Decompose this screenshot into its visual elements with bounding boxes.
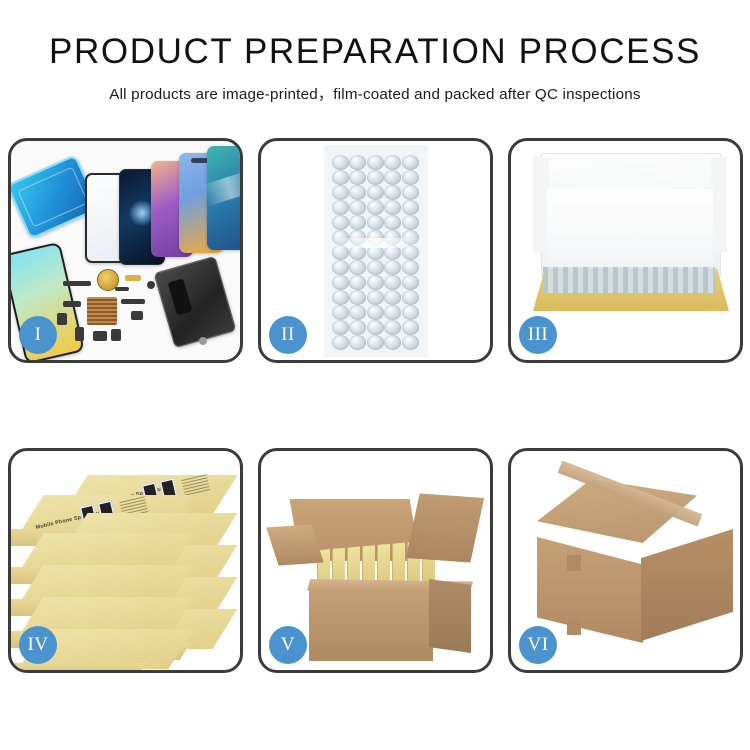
step-badge-6: VI (519, 626, 557, 664)
speaker-part-icon (131, 311, 143, 320)
process-step-4: Mobile Phone Spare Parts Mobile Phone Sp… (8, 448, 243, 673)
foam-sheet-icon (547, 189, 713, 273)
tape-tab-lower-icon (567, 621, 581, 635)
page-title: PRODUCT PREPARATION PROCESS (0, 34, 750, 71)
button-part-icon (57, 313, 67, 325)
sim-tray-part-icon (111, 329, 121, 341)
process-step-5: V (258, 448, 493, 673)
bracket-part-icon (63, 301, 81, 307)
step-badge-4: IV (19, 626, 57, 664)
carton-side-face-icon (429, 579, 471, 653)
camera-module-part-icon (75, 327, 84, 341)
carton-front-face-icon (309, 589, 433, 661)
wrap-highlight (324, 238, 428, 248)
process-step-6: VI (508, 448, 743, 673)
flex-cable-part-icon (63, 281, 91, 286)
screw-part-icon (147, 281, 155, 289)
vibration-motor-part-icon (93, 331, 107, 341)
header: PRODUCT PREPARATION PROCESS All products… (0, 0, 750, 104)
carton-flap-right-icon (406, 493, 484, 562)
step-badge-3: III (519, 316, 557, 354)
process-step-grid: I (8, 138, 742, 683)
process-step-3: III (508, 138, 743, 363)
phone-teal-screen-icon (207, 146, 240, 250)
step-badge-2: II (269, 316, 307, 354)
page-subtitle: All products are image-printed，film-coat… (0, 82, 750, 104)
sealed-carton-front-icon (537, 537, 643, 643)
step-badge-1: I (19, 316, 57, 354)
step-badge-5: V (269, 626, 307, 664)
bubble-wrapped-contents-icon (543, 267, 715, 293)
bubble-wrap-sleeve-icon (324, 145, 428, 357)
bubble-grid (332, 155, 420, 349)
gold-connector-part-icon (125, 275, 141, 281)
small-flex-part-icon (115, 287, 129, 291)
process-step-2: II (258, 138, 493, 363)
phone-back-housing-icon (153, 256, 236, 349)
process-step-1: I (8, 138, 243, 363)
ic-chip-part-icon (87, 297, 117, 325)
tape-tab-upper-icon (567, 555, 581, 571)
lid-flap-right-icon (711, 156, 727, 255)
antenna-cable-part-icon (121, 299, 145, 304)
infographic-page: PRODUCT PREPARATION PROCESS All products… (0, 0, 750, 750)
screwdriver-tip-icon (199, 337, 207, 345)
sealed-carton-side-icon (641, 529, 733, 641)
